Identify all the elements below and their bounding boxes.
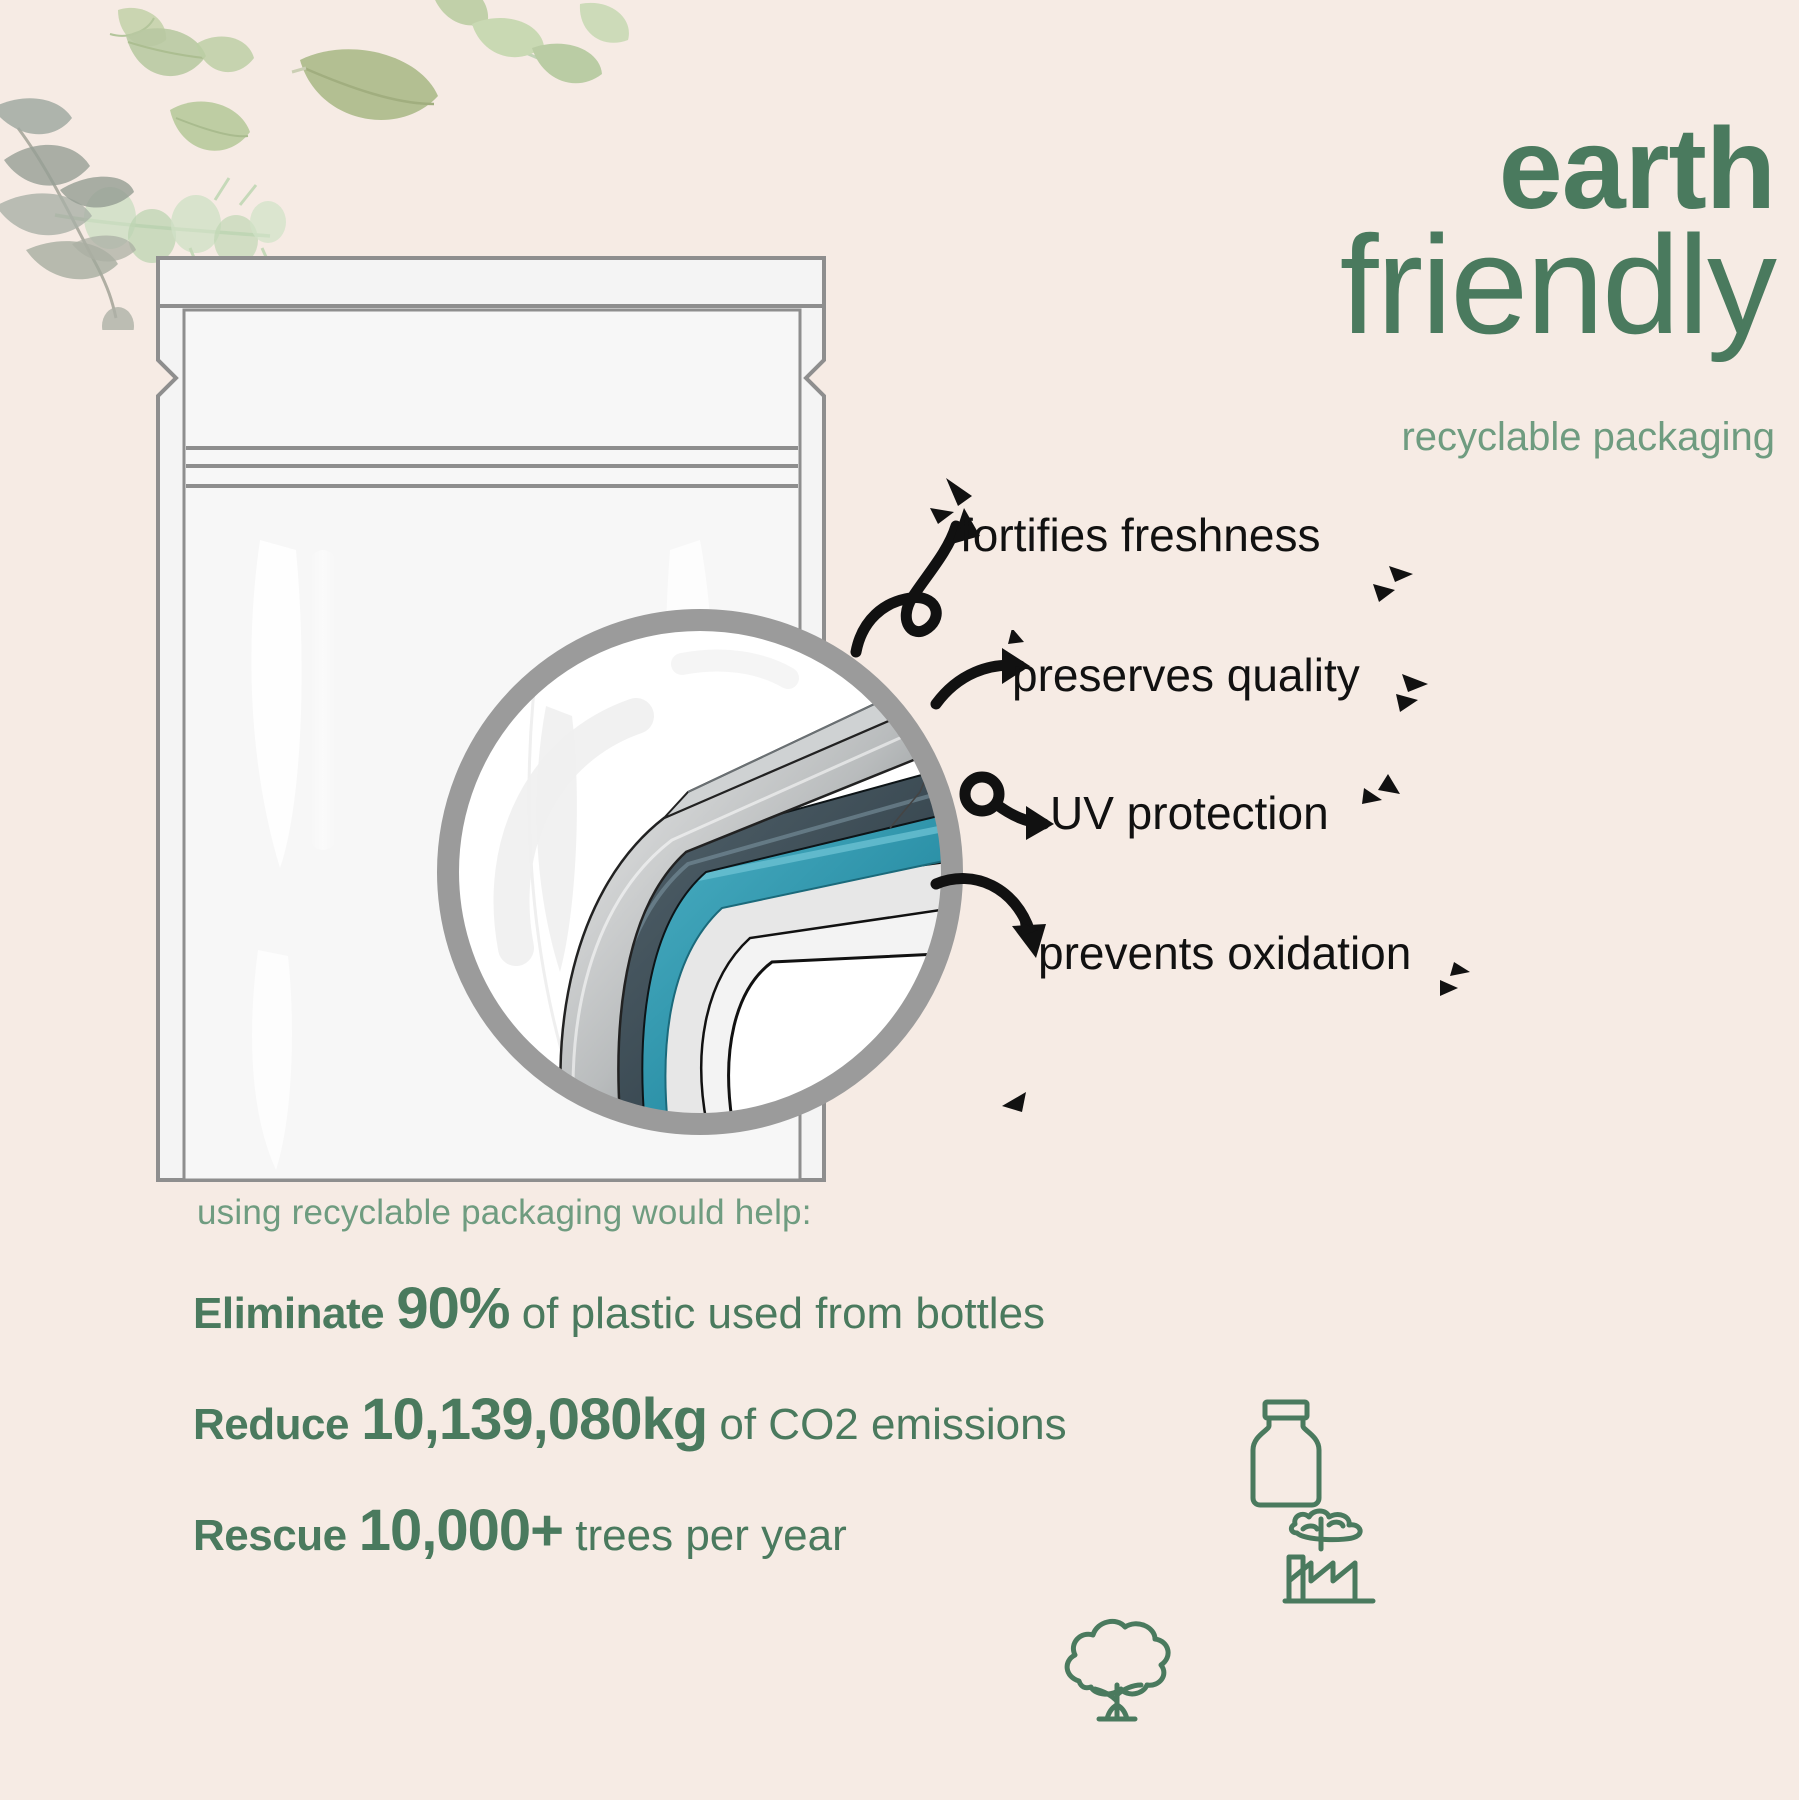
infographic-canvas: earth friendly recyclable packaging — [0, 0, 1799, 1800]
stat-tail: of CO2 emissions — [719, 1400, 1066, 1449]
stat-number: 10,000+ — [359, 1498, 563, 1563]
leaves-top-right-decoration — [420, 0, 650, 170]
feature-label-preserves-quality: preserves quality — [1012, 648, 1360, 702]
feature-label-prevents-oxidation: prevents oxidation — [1038, 926, 1411, 980]
stat-tail: trees per year — [575, 1511, 846, 1560]
magnifier-cutaway-illustration — [420, 560, 1020, 1200]
headline-subtitle: recyclable packaging — [895, 415, 1775, 460]
stat-row: Eliminate 90% of plastic used from bottl… — [193, 1275, 1293, 1342]
accent-tick-icon — [1424, 958, 1474, 1008]
tree-icon — [1055, 1615, 1179, 1727]
stats-intro-text: using recyclable packaging would help: — [197, 1193, 1293, 1233]
headline-line-2: friendly — [905, 222, 1775, 348]
bottle-icon — [1243, 1398, 1329, 1510]
stats-block: using recyclable packaging would help: E… — [193, 1193, 1293, 1608]
stat-lead: Reduce — [193, 1400, 349, 1449]
stat-lead: Rescue — [193, 1511, 347, 1560]
factory-icon — [1281, 1505, 1377, 1607]
accent-tick-icon — [1348, 772, 1408, 832]
stat-tail: of plastic used from bottles — [522, 1289, 1045, 1338]
feature-label-uv-protection: UV protection — [1050, 786, 1329, 840]
stat-row: Reduce 10,139,080kg of CO2 emissions — [193, 1386, 1293, 1453]
stat-lead: Eliminate — [193, 1289, 384, 1338]
accent-tick-icon — [1355, 560, 1415, 620]
stat-number: 10,139,080kg — [361, 1387, 707, 1452]
stat-number: 90% — [396, 1276, 509, 1341]
page-title: earth friendly — [905, 118, 1775, 348]
feature-label-fortifies-freshness: fortifies freshness — [960, 508, 1320, 562]
stat-row: Rescue 10,000+ trees per year — [193, 1497, 1293, 1564]
accent-tick-icon — [1392, 668, 1452, 728]
